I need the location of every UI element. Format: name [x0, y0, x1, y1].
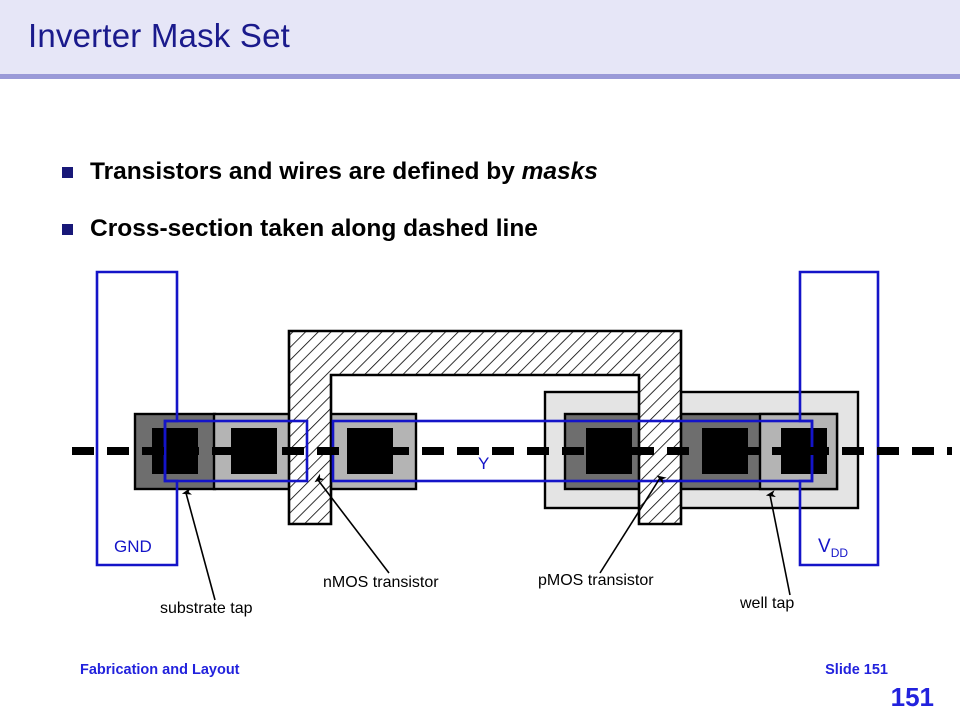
bullet-item-1: Transistors and wires are defined by mas…: [62, 158, 598, 186]
leader-substrate-tap: [186, 493, 215, 600]
bullet-text-1: Transistors and wires are defined by mas…: [90, 158, 598, 186]
bullet-square-icon: [62, 167, 73, 178]
page-number: 151: [891, 682, 934, 713]
substrate-tap-label: substrate tap: [160, 600, 253, 617]
bullet-text-2: Cross-section taken along dashed line: [90, 215, 538, 243]
output-y-label: Y: [478, 454, 489, 473]
nmos-transistor-label: nMOS transistor: [323, 574, 439, 591]
bullet-1-lead: Transistors and wires are defined by: [90, 158, 522, 185]
footer-slide-label: Slide 151: [825, 662, 888, 678]
inverter-mask-layout-figure: GND VDD Y substrate tap nMOS transistor …: [0, 255, 960, 645]
pmos-transistor-label: pMOS transistor: [538, 572, 654, 589]
bullet-1-emphasis: masks: [522, 158, 598, 185]
page-title: Inverter Mask Set: [28, 17, 290, 55]
bullet-item-2: Cross-section taken along dashed line: [62, 215, 538, 243]
bullet-square-icon: [62, 224, 73, 235]
footer-section-label: Fabrication and Layout: [80, 662, 240, 678]
well-tap-label: well tap: [739, 595, 794, 612]
vdd-label-main: V: [818, 536, 831, 557]
leader-nmos: [318, 480, 389, 573]
gnd-label: GND: [114, 537, 152, 556]
bullet-2-lead: Cross-section taken along dashed line: [90, 215, 538, 242]
title-divider: [0, 74, 960, 79]
vdd-label-subscript: DD: [831, 546, 849, 560]
leader-well-tap: [770, 495, 790, 595]
vdd-label: VDD: [818, 536, 848, 560]
